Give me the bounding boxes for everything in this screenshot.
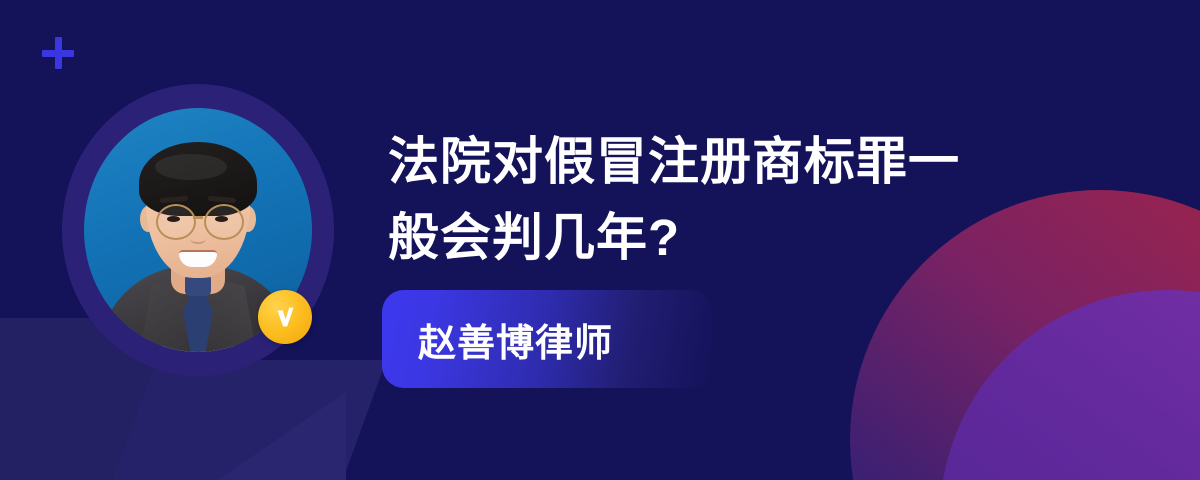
lawyer-question-banner: 法院对假冒注册商标罪一 般会判几年? 赵善博律师: [0, 0, 1200, 480]
page-title: 法院对假冒注册商标罪一 般会判几年?: [388, 124, 1088, 276]
verified-badge-icon: [258, 290, 312, 344]
portrait-glasses-right: [204, 204, 244, 240]
decor-slab-middle: [84, 360, 387, 480]
portrait-eye-right: [215, 216, 228, 222]
portrait-hair: [139, 142, 257, 216]
portrait-eye-left: [167, 216, 180, 222]
plus-icon: [42, 37, 74, 69]
avatar[interactable]: [62, 84, 334, 376]
decor-wedge-triangle: [186, 392, 346, 480]
portrait-glasses-bridge: [193, 216, 203, 219]
lawyer-name-badge[interactable]: 赵善博律师: [382, 290, 712, 388]
portrait-nose: [190, 234, 206, 244]
portrait-mouth: [179, 250, 217, 267]
lawyer-name-label: 赵善博律师: [418, 312, 613, 367]
decor-circle-inner: [940, 290, 1200, 480]
